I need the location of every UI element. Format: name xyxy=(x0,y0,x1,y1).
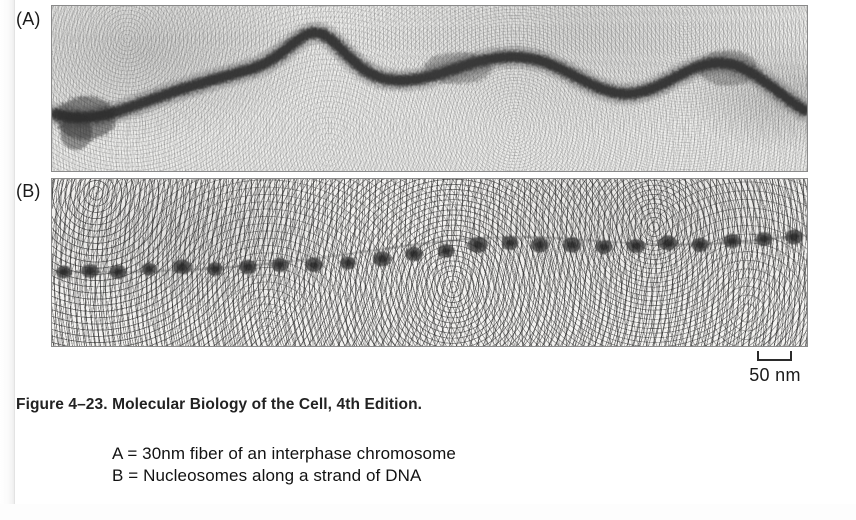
scale-bar-baseline xyxy=(757,359,792,361)
legend-line-a: A = 30nm fiber of an interphase chromoso… xyxy=(112,444,456,464)
page-gutter xyxy=(0,0,14,520)
page-gutter-edge xyxy=(14,0,15,520)
scale-bar-label: 50 nm xyxy=(715,365,835,386)
page-bottom-band xyxy=(0,504,856,520)
scale-bar-bracket-icon xyxy=(757,351,792,361)
figure-caption: Figure 4–23. Molecular Biology of the Ce… xyxy=(16,396,422,414)
panel-b-label: (B) xyxy=(16,182,41,200)
figure-page: (A) xyxy=(0,0,856,520)
nucleosome-beads-on-string-icon xyxy=(52,179,807,346)
chromatin-fiber-30nm-icon xyxy=(52,6,807,171)
legend-line-b: B = Nucleosomes along a strand of DNA xyxy=(112,466,421,486)
panel-a-micrograph xyxy=(51,5,808,172)
panel-a-image xyxy=(52,6,807,171)
panel-b-image xyxy=(52,179,807,346)
panel-a-label: (A) xyxy=(16,10,41,28)
panel-b-micrograph xyxy=(51,178,808,347)
